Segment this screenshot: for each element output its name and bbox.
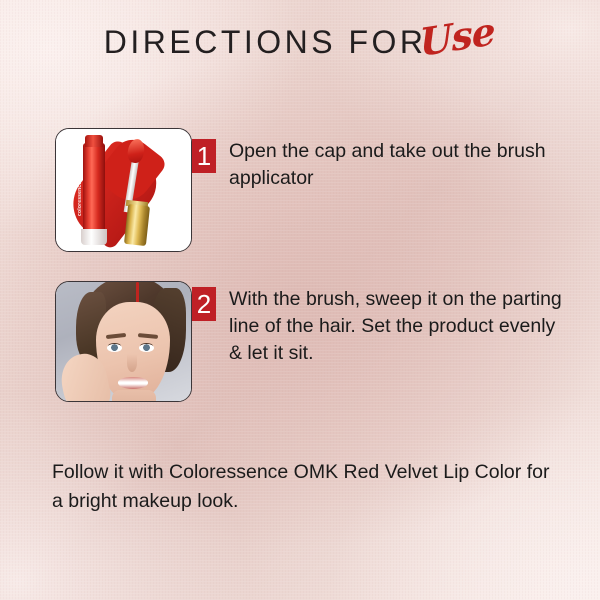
lipstick-tube-base-icon — [81, 229, 107, 245]
model-face-image — [56, 282, 191, 401]
lipstick-brand-label: coloressence — [77, 196, 111, 216]
step-1-number-badge: 1 — [192, 139, 216, 173]
page-title: DIRECTIONS FORUse — [0, 20, 600, 65]
step-1-image-card: coloressence — [55, 128, 192, 252]
lips-icon — [118, 377, 148, 389]
lipstick-tube-icon — [83, 143, 105, 235]
page-title-main: DIRECTIONS FOR — [104, 24, 427, 60]
page-title-script: Use — [418, 8, 495, 65]
step-2-text: With the brush, sweep it on the parting … — [229, 286, 569, 367]
applicator-gold-cap-icon — [124, 204, 150, 246]
lipstick-tube-top-icon — [85, 135, 103, 147]
lipstick-product-image: coloressence — [56, 129, 191, 251]
step-1-text: Open the cap and take out the brush appl… — [229, 138, 559, 192]
eye-right-icon — [139, 344, 154, 352]
neck-icon — [112, 390, 156, 402]
nose-icon — [127, 354, 137, 372]
step-2-number-badge: 2 — [192, 287, 216, 321]
eye-left-icon — [107, 344, 122, 352]
step-2-image-card — [55, 281, 192, 402]
footer-note: Follow it with Coloressence OMK Red Velv… — [52, 458, 562, 516]
